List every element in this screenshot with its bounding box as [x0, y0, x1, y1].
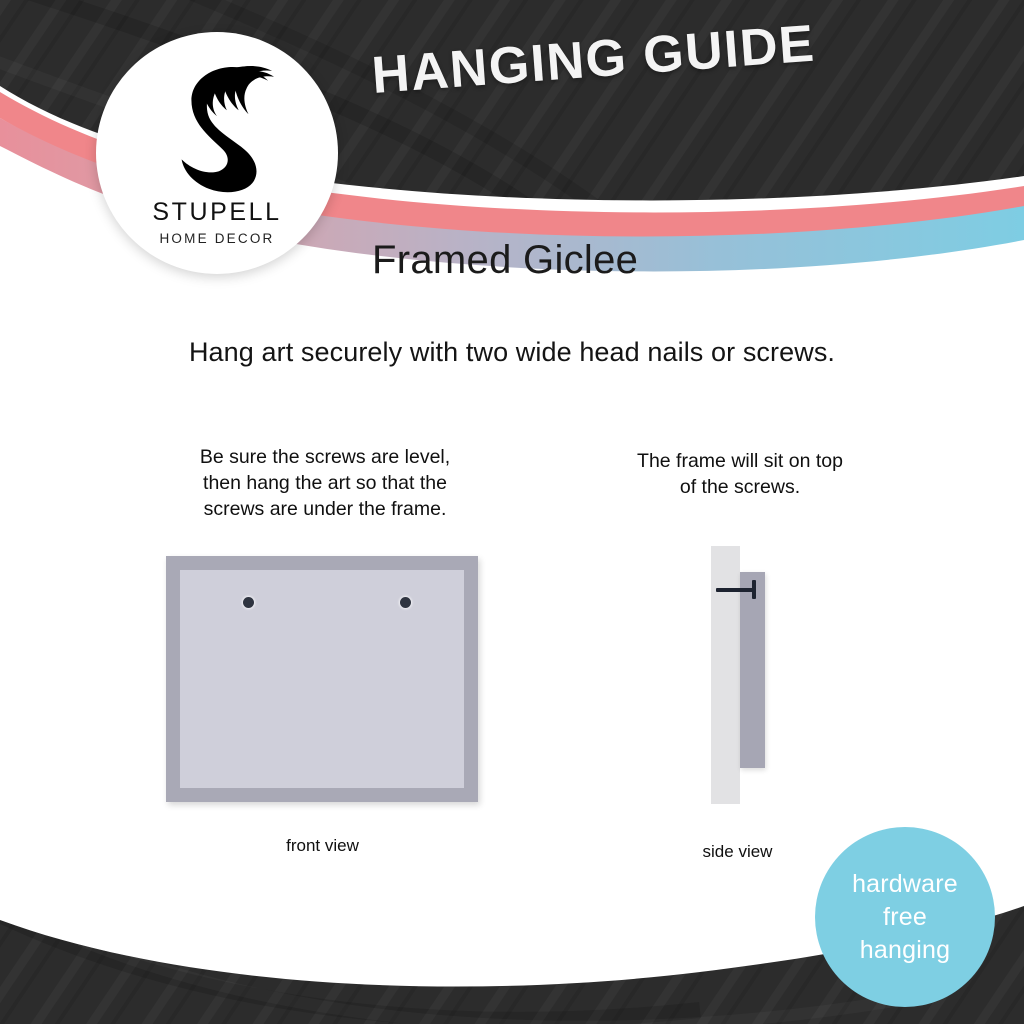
side-view-section: The frame will sit on top of the screws.: [560, 448, 920, 500]
front-caption-line-1: Be sure the screws are level,: [120, 444, 530, 470]
side-caption-line-2: of the screws.: [560, 474, 920, 500]
badge-line-1: hardware: [852, 868, 958, 901]
front-caption-line-3: screws are under the frame.: [120, 496, 530, 522]
front-view-section: Be sure the screws are level, then hang …: [120, 444, 530, 522]
side-view-wall: [711, 546, 740, 804]
badge-line-2: free: [883, 901, 927, 934]
brand-name: STUPELL: [152, 198, 281, 227]
side-view-caption: The frame will sit on top of the screws.: [560, 448, 920, 500]
front-caption-line-2: then hang the art so that the: [120, 470, 530, 496]
stupell-swoosh-s-logo-icon: [158, 54, 276, 194]
brand-tagline: HOME DECOR: [159, 231, 274, 246]
front-view-mat: [180, 570, 464, 788]
brand-logo-badge: STUPELL HOME DECOR: [96, 32, 338, 274]
side-view-frame: [740, 572, 765, 768]
front-view-label: front view: [200, 836, 445, 856]
main-instruction: Hang art securely with two wide head nai…: [0, 337, 1024, 368]
nail-shaft-icon: [716, 588, 756, 592]
page-title: HANGING GUIDE: [370, 14, 817, 106]
badge-line-3: hanging: [860, 934, 950, 967]
side-caption-line-1: The frame will sit on top: [560, 448, 920, 474]
hardware-free-hanging-badge: hardware free hanging: [815, 827, 995, 1007]
front-view-frame-diagram: [166, 556, 478, 802]
product-name: Framed Giclee: [372, 238, 638, 283]
front-view-caption: Be sure the screws are level, then hang …: [120, 444, 530, 522]
screw-dot-right: [400, 597, 411, 608]
hanging-guide-page: STUPELL HOME DECOR HANGING GUIDE Framed …: [0, 0, 1024, 1024]
screw-dot-left: [243, 597, 254, 608]
side-view-label: side view: [615, 842, 860, 862]
nail-head-icon: [752, 580, 756, 599]
